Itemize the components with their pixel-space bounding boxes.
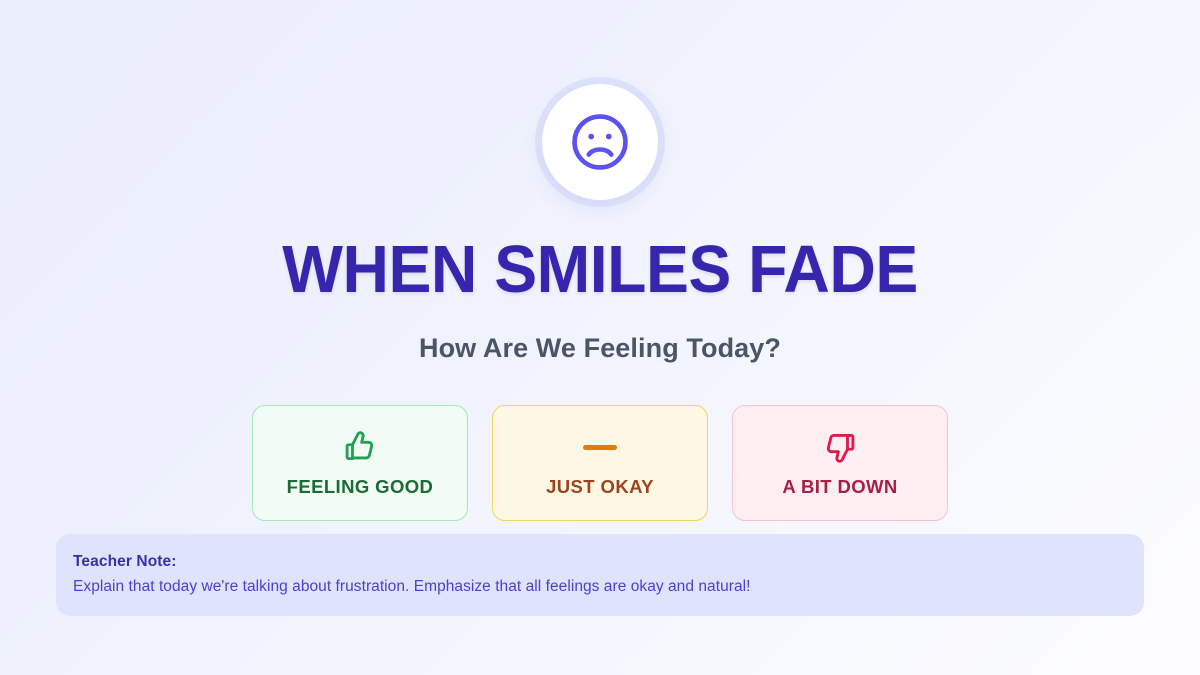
hero-icon-badge	[542, 84, 658, 200]
mood-label: JUST OKAY	[546, 476, 654, 498]
mood-label: A BIT DOWN	[782, 476, 897, 498]
mood-card-just-okay[interactable]: JUST OKAY	[492, 405, 708, 521]
mood-label: FEELING GOOD	[287, 476, 434, 498]
mood-card-feeling-good[interactable]: FEELING GOOD	[252, 405, 468, 521]
thumbs-up-icon	[342, 428, 378, 466]
sad-face-icon	[567, 109, 633, 175]
page-title: WHEN SMILES FADE	[282, 236, 918, 303]
mood-options-row: FEELING GOOD JUST OKAY A BIT DOWN	[252, 405, 948, 521]
mood-card-a-bit-down[interactable]: A BIT DOWN	[732, 405, 948, 521]
slide-root: WHEN SMILES FADE How Are We Feeling Toda…	[0, 0, 1200, 675]
teacher-note-title: Teacher Note:	[73, 553, 1144, 571]
page-subtitle: How Are We Feeling Today?	[419, 333, 781, 364]
minus-icon	[583, 428, 617, 466]
thumbs-down-icon	[822, 428, 858, 466]
teacher-note-banner: Teacher Note: Explain that today we're t…	[56, 534, 1144, 616]
teacher-note-body: Explain that today we're talking about f…	[73, 578, 1144, 596]
